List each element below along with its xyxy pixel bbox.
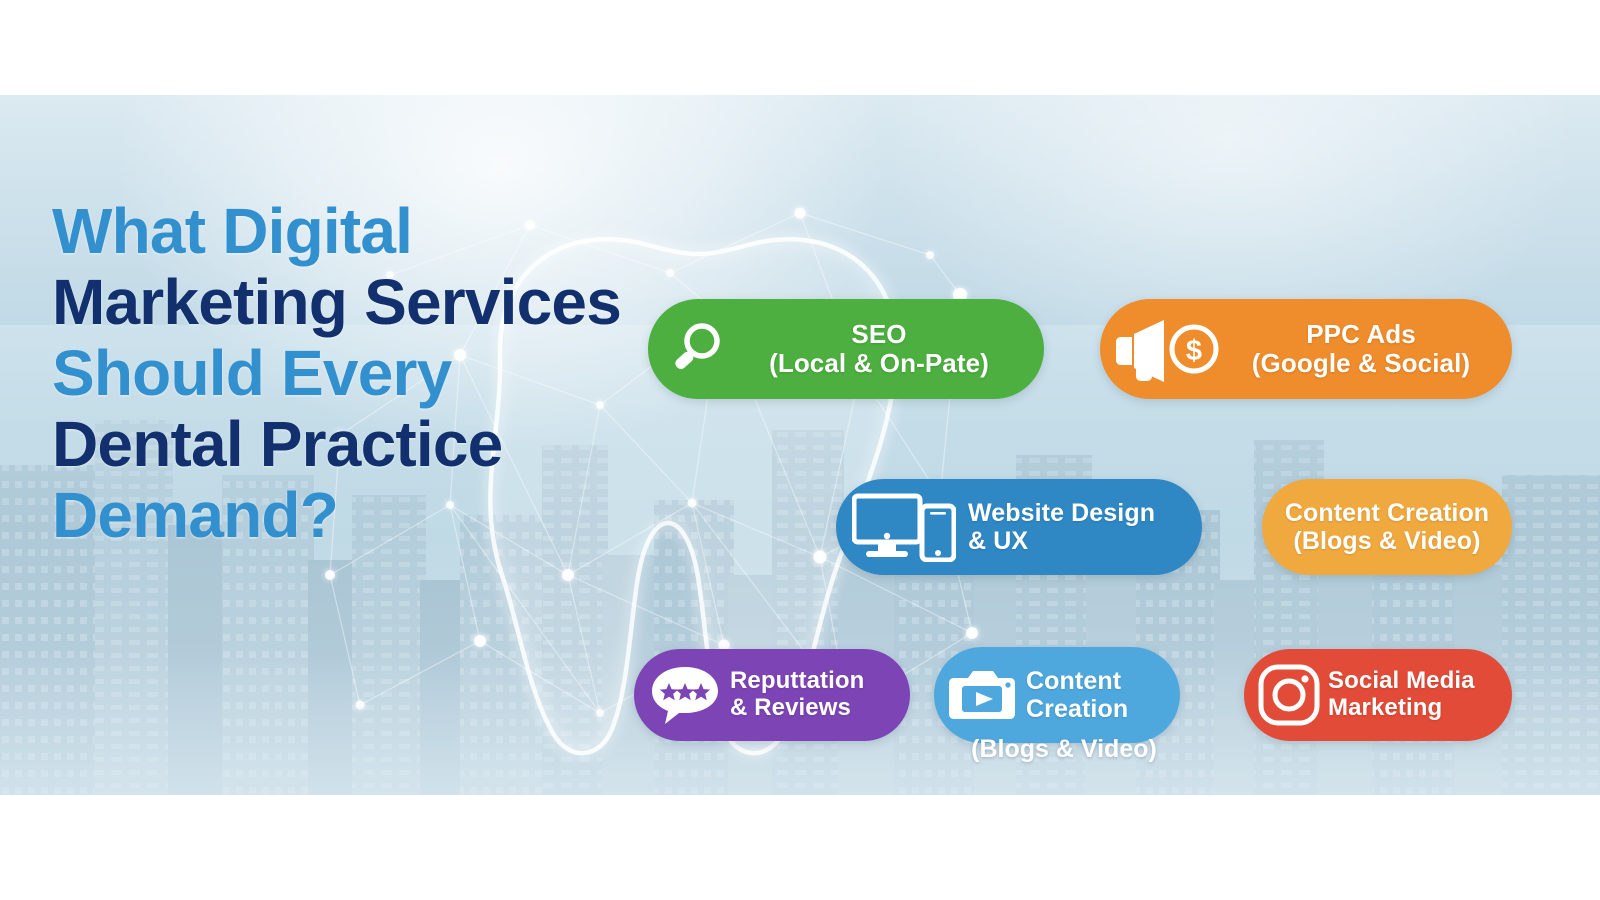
ppc-line-2: (Google & Social) (1224, 349, 1498, 378)
service-pill-seo[interactable]: SEO (Local & On-Pate) (648, 299, 1044, 399)
instagram-camera-icon (1256, 662, 1322, 728)
monitor-phone-icon (852, 492, 956, 562)
website-line-1: Website Design (968, 499, 1155, 527)
service-pill-reputation-label: Reputtation & Reviews (722, 668, 898, 722)
reputation-line-2: & Reviews (730, 695, 898, 722)
service-pill-content-creation-middle-label: Content Creation (1018, 667, 1168, 723)
content-right-line-2: (Blogs & Video) (1272, 527, 1502, 555)
social-line-2: Marketing (1328, 695, 1502, 722)
seo-line-1: SEO (851, 319, 906, 349)
ppc-line-1: PPC Ads (1306, 319, 1416, 349)
service-pill-content-creation-right[interactable]: Content Creation (Blogs & Video) (1262, 479, 1512, 575)
service-pill-content-creation-middle-caption: (Blogs & Video) (934, 735, 1194, 764)
service-pill-reputation[interactable]: Reputtation & Reviews (634, 649, 910, 741)
service-pill-website-design[interactable]: Website Design & UX (836, 479, 1202, 575)
service-pill-website-design-label: Website Design & UX (956, 499, 1188, 555)
video-camera-icon (948, 664, 1018, 726)
service-pill-content-creation-right-label: Content Creation (Blogs & Video) (1272, 499, 1502, 555)
headline-line-5: Demand? (52, 484, 772, 547)
banner-canvas: What Digital Marketing Services Should E… (0, 95, 1600, 795)
social-line-1: Social Media (1328, 667, 1475, 694)
content-mid-line-1: Content (1026, 667, 1121, 695)
headline-line-1: What Digital (52, 200, 772, 263)
content-mid-line-2: Creation (1026, 695, 1168, 723)
infographic-stage: What Digital Marketing Services Should E… (0, 0, 1600, 900)
speech-bubble-stars-icon (648, 662, 722, 728)
seo-line-2: (Local & On-Pate) (730, 349, 1028, 378)
website-line-2: & UX (968, 527, 1188, 555)
service-pill-social-media[interactable]: Social Media Marketing (1244, 649, 1512, 741)
reputation-line-1: Reputtation (730, 667, 864, 694)
service-pill-ppc-label: PPC Ads (Google & Social) (1224, 320, 1498, 378)
megaphone-dollar-icon: $ (1112, 316, 1224, 382)
magnifying-glass-icon (662, 315, 730, 383)
service-pill-content-creation-middle[interactable]: Content Creation (934, 647, 1180, 743)
service-pill-social-media-label: Social Media Marketing (1322, 668, 1502, 722)
content-right-line-1: Content Creation (1285, 499, 1489, 527)
svg-text:$: $ (1186, 335, 1202, 367)
service-pill-ppc[interactable]: $ PPC Ads (Google & Social) (1100, 299, 1512, 399)
service-pill-seo-label: SEO (Local & On-Pate) (730, 320, 1028, 378)
headline-line-4: Dental Practice (52, 413, 772, 476)
